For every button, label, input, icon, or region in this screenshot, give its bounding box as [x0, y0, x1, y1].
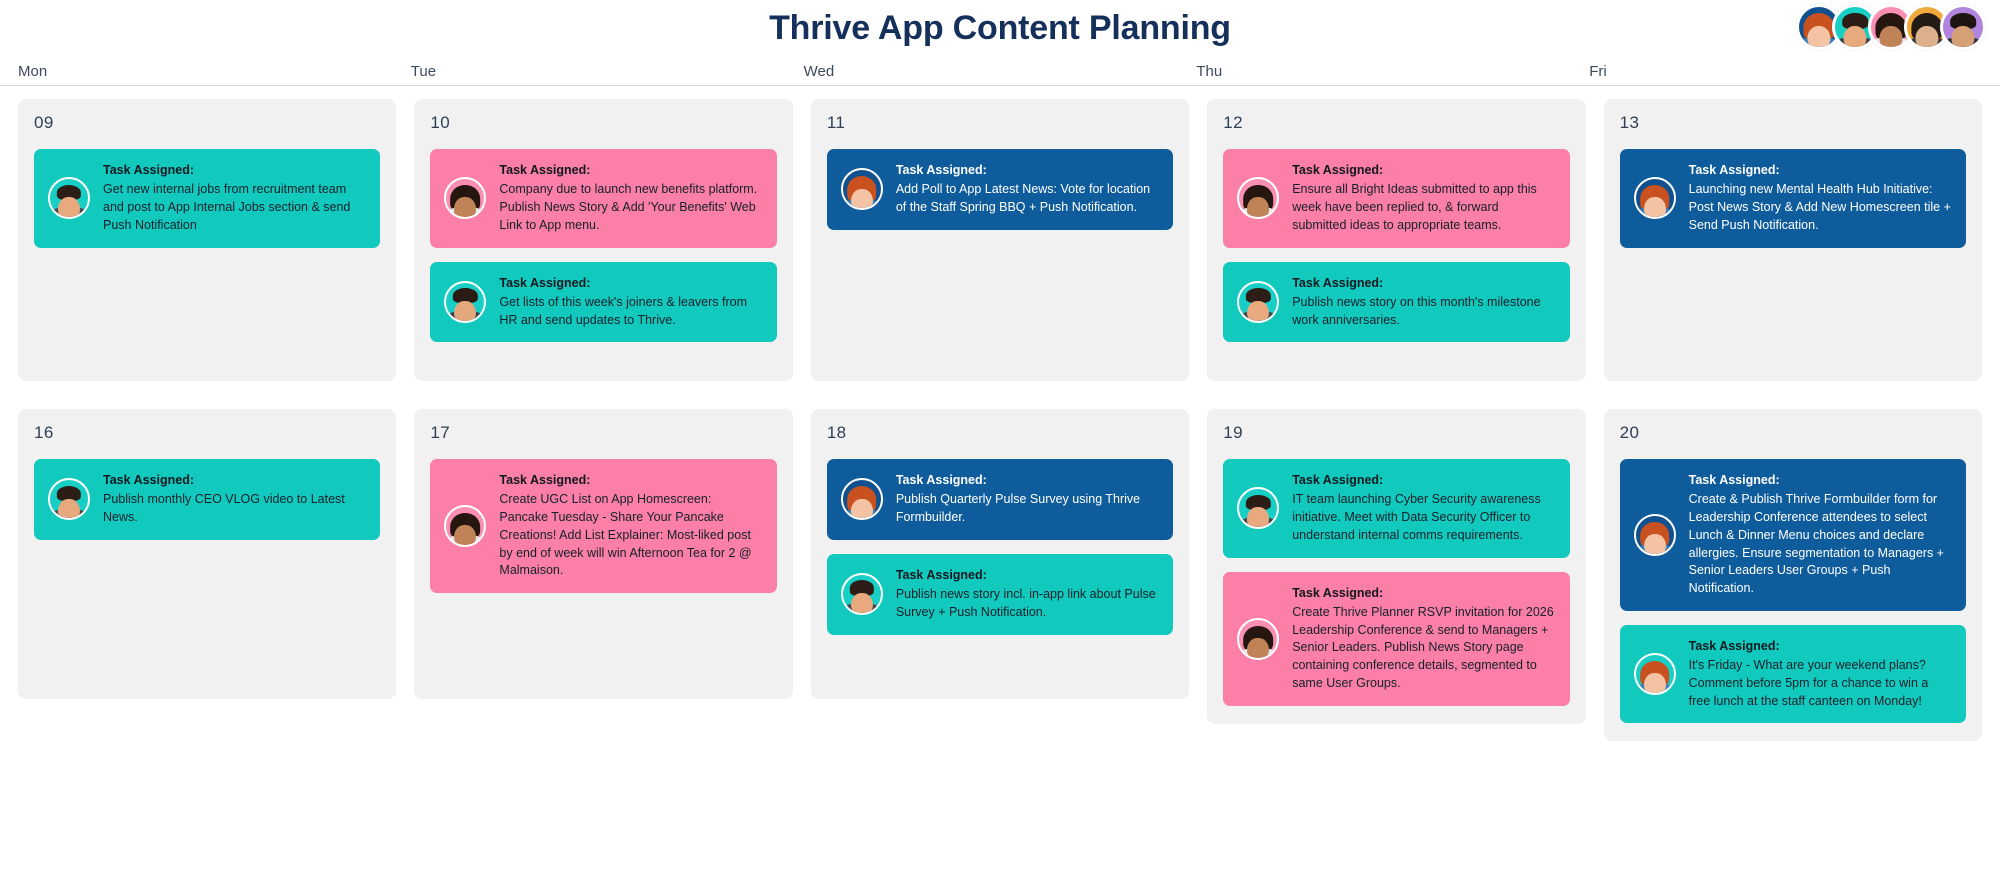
- task-assigned-label: Task Assigned:: [1292, 472, 1555, 488]
- task-card[interactable]: Task Assigned:Launching new Mental Healt…: [1620, 149, 1966, 248]
- task-list: Task Assigned:Company due to launch new …: [430, 149, 776, 342]
- task-description: Get new internal jobs from recruitment t…: [103, 181, 366, 234]
- task-body: Task Assigned:Publish monthly CEO VLOG v…: [103, 472, 366, 527]
- calendar-column-wed: 11Task Assigned:Add Poll to App Latest N…: [811, 99, 1189, 741]
- avatar-face: [1644, 534, 1666, 556]
- task-list: Task Assigned:Create UGC List on App Hom…: [430, 459, 776, 593]
- task-list: Task Assigned:Publish monthly CEO VLOG v…: [34, 459, 380, 540]
- calendar-column-tue: 10Task Assigned:Company due to launch ne…: [414, 99, 792, 741]
- day-cell-12[interactable]: 12Task Assigned:Ensure all Bright Ideas …: [1207, 99, 1585, 381]
- cell-spacer: [827, 230, 1173, 363]
- avatar-face: [1843, 26, 1866, 49]
- day-number: 18: [827, 423, 1173, 443]
- page-header: Thrive App Content Planning: [0, 0, 2000, 56]
- avatar-bearded-man-avatar: [1237, 281, 1279, 323]
- day-cell-19[interactable]: 19Task Assigned:IT team launching Cyber …: [1207, 409, 1585, 724]
- task-assigned-label: Task Assigned:: [1689, 162, 1952, 178]
- day-number: 17: [430, 423, 776, 443]
- avatar-face: [851, 593, 873, 615]
- avatar-face: [1807, 26, 1830, 49]
- task-body: Task Assigned:Create UGC List on App Hom…: [499, 472, 762, 580]
- avatar-face: [454, 197, 476, 219]
- task-card[interactable]: Task Assigned:Publish monthly CEO VLOG v…: [34, 459, 380, 540]
- cell-spacer: [1223, 342, 1569, 363]
- task-description: Create Thrive Planner RSVP invitation fo…: [1292, 604, 1555, 693]
- avatar-curly-haired-woman-avatar: [1237, 177, 1279, 219]
- cell-spacer: [430, 342, 776, 363]
- calendar-column-thu: 12Task Assigned:Ensure all Bright Ideas …: [1207, 99, 1585, 741]
- weekday-label-fri: Fri: [1589, 63, 1982, 85]
- cell-spacer: [827, 635, 1173, 682]
- task-list: Task Assigned:Launching new Mental Healt…: [1620, 149, 1966, 248]
- task-card[interactable]: Task Assigned:Company due to launch new …: [430, 149, 776, 248]
- avatar-face: [454, 525, 476, 547]
- avatar-face: [851, 499, 873, 521]
- task-card[interactable]: Task Assigned:Add Poll to App Latest New…: [827, 149, 1173, 230]
- task-description: Company due to launch new benefits platf…: [499, 181, 762, 234]
- cell-spacer: [1620, 248, 1966, 364]
- calendar-column-mon: 09Task Assigned:Get new internal jobs fr…: [18, 99, 396, 741]
- task-description: Publish monthly CEO VLOG video to Latest…: [103, 491, 366, 527]
- day-cell-13[interactable]: 13Task Assigned:Launching new Mental Hea…: [1604, 99, 1982, 381]
- avatar-dark-hair-man-avatar: [444, 281, 486, 323]
- weekday-label-tue: Tue: [411, 63, 804, 85]
- calendar-column-fri: 13Task Assigned:Launching new Mental Hea…: [1604, 99, 1982, 741]
- task-assigned-label: Task Assigned:: [1689, 472, 1952, 488]
- task-description: Launching new Mental Health Hub Initiati…: [1689, 181, 1952, 234]
- avatar-red-haired-woman-avatar: [1634, 514, 1676, 556]
- task-card[interactable]: Task Assigned:Publish Quarterly Pulse Su…: [827, 459, 1173, 540]
- cell-spacer: [430, 593, 776, 681]
- avatar-curly-haired-woman-avatar: [444, 505, 486, 547]
- weekday-label-thu: Thu: [1196, 63, 1589, 85]
- task-card[interactable]: Task Assigned:Get new internal jobs from…: [34, 149, 380, 248]
- avatar-face: [1879, 26, 1902, 49]
- task-description: Create UGC List on App Homescreen: Panca…: [499, 491, 762, 580]
- avatar-face: [58, 197, 80, 219]
- task-body: Task Assigned:Add Poll to App Latest New…: [896, 162, 1159, 217]
- day-cell-18[interactable]: 18Task Assigned:Publish Quarterly Pulse …: [811, 409, 1189, 699]
- day-number: 11: [827, 113, 1173, 133]
- task-card[interactable]: Task Assigned:Publish news story incl. i…: [827, 554, 1173, 635]
- task-assigned-label: Task Assigned:: [499, 275, 762, 291]
- task-list: Task Assigned:Ensure all Bright Ideas su…: [1223, 149, 1569, 342]
- task-assigned-label: Task Assigned:: [1292, 275, 1555, 291]
- task-assigned-label: Task Assigned:: [1689, 638, 1952, 654]
- avatar-bearded-man-avatar: [48, 478, 90, 520]
- day-number: 13: [1620, 113, 1966, 133]
- day-cell-16[interactable]: 16Task Assigned:Publish monthly CEO VLOG…: [18, 409, 396, 699]
- task-description: Publish Quarterly Pulse Survey using Thr…: [896, 491, 1159, 527]
- task-body: Task Assigned:Create & Publish Thrive Fo…: [1689, 472, 1952, 598]
- task-body: Task Assigned:It's Friday - What are you…: [1689, 638, 1952, 711]
- calendar-page: Thrive App Content Planning MonTueWedThu…: [0, 0, 2000, 892]
- task-description: Add Poll to App Latest News: Vote for lo…: [896, 181, 1159, 217]
- avatar-red-haired-woman-avatar: [841, 168, 883, 210]
- task-body: Task Assigned:Publish news story incl. i…: [896, 567, 1159, 622]
- task-list: Task Assigned:Add Poll to App Latest New…: [827, 149, 1173, 230]
- task-assigned-label: Task Assigned:: [499, 162, 762, 178]
- day-number: 12: [1223, 113, 1569, 133]
- task-list: Task Assigned:Create & Publish Thrive Fo…: [1620, 459, 1966, 723]
- avatar-bearded-man-avatar: [48, 177, 90, 219]
- task-card[interactable]: Task Assigned:Create Thrive Planner RSVP…: [1223, 572, 1569, 706]
- day-cell-17[interactable]: 17Task Assigned:Create UGC List on App H…: [414, 409, 792, 699]
- avatar-red-haired-woman-avatar: [841, 478, 883, 520]
- day-number: 19: [1223, 423, 1569, 443]
- avatar-bearded-man-avatar: [1237, 487, 1279, 529]
- day-cell-11[interactable]: 11Task Assigned:Add Poll to App Latest N…: [811, 99, 1189, 381]
- task-card[interactable]: Task Assigned:Create UGC List on App Hom…: [430, 459, 776, 593]
- avatar-face: [1247, 197, 1269, 219]
- task-body: Task Assigned:Create Thrive Planner RSVP…: [1292, 585, 1555, 693]
- avatar-face: [1247, 507, 1269, 529]
- avatar-curly-haired-woman-avatar: [444, 177, 486, 219]
- task-card[interactable]: Task Assigned:It's Friday - What are you…: [1620, 625, 1966, 724]
- day-cell-20[interactable]: 20Task Assigned:Create & Publish Thrive …: [1604, 409, 1982, 741]
- cell-spacer: [34, 248, 380, 364]
- task-assigned-label: Task Assigned:: [1292, 162, 1555, 178]
- day-number: 09: [34, 113, 380, 133]
- task-description: Publish news story on this month's miles…: [1292, 294, 1555, 330]
- avatar-face: [1247, 638, 1269, 660]
- weekday-header-row: MonTueWedThuFri: [0, 56, 2000, 86]
- weekday-label-wed: Wed: [804, 63, 1197, 85]
- task-card[interactable]: Task Assigned:Publish news story on this…: [1223, 262, 1569, 343]
- cell-spacer: [34, 540, 380, 681]
- weekday-label-mon: Mon: [18, 63, 411, 85]
- task-list: Task Assigned:Get new internal jobs from…: [34, 149, 380, 248]
- avatar-beard-man-dark-avatar: [1940, 4, 1986, 50]
- avatar-curly-haired-woman-avatar: [1237, 618, 1279, 660]
- avatar-face: [454, 301, 476, 323]
- task-list: Task Assigned:IT team launching Cyber Se…: [1223, 459, 1569, 706]
- page-title: Thrive App Content Planning: [769, 9, 1231, 48]
- task-description: Get lists of this week's joiners & leave…: [499, 294, 762, 330]
- day-number: 20: [1620, 423, 1966, 443]
- avatar-face: [1247, 301, 1269, 323]
- task-assigned-label: Task Assigned:: [896, 567, 1159, 583]
- task-assigned-label: Task Assigned:: [896, 472, 1159, 488]
- day-cell-10[interactable]: 10Task Assigned:Company due to launch ne…: [414, 99, 792, 381]
- task-body: Task Assigned:IT team launching Cyber Se…: [1292, 472, 1555, 545]
- calendar-grid: 09Task Assigned:Get new internal jobs fr…: [0, 99, 2000, 741]
- task-assigned-label: Task Assigned:: [103, 162, 366, 178]
- task-assigned-label: Task Assigned:: [896, 162, 1159, 178]
- task-description: Publish news story incl. in-app link abo…: [896, 586, 1159, 622]
- task-body: Task Assigned:Get new internal jobs from…: [103, 162, 366, 235]
- avatar-face: [1951, 26, 1974, 49]
- task-card[interactable]: Task Assigned:Ensure all Bright Ideas su…: [1223, 149, 1569, 248]
- task-assigned-label: Task Assigned:: [103, 472, 366, 488]
- avatar-face: [58, 499, 80, 521]
- task-card[interactable]: Task Assigned:Create & Publish Thrive Fo…: [1620, 459, 1966, 611]
- day-number: 10: [430, 113, 776, 133]
- task-assigned-label: Task Assigned:: [499, 472, 762, 488]
- task-body: Task Assigned:Publish news story on this…: [1292, 275, 1555, 330]
- task-card[interactable]: Task Assigned:IT team launching Cyber Se…: [1223, 459, 1569, 558]
- avatar-red-haired-woman-2-avatar: [1634, 653, 1676, 695]
- avatar-face: [1915, 26, 1938, 49]
- team-avatar-stack[interactable]: [1796, 4, 1986, 50]
- task-assigned-label: Task Assigned:: [1292, 585, 1555, 601]
- avatar-red-haired-woman-avatar: [1634, 177, 1676, 219]
- task-description: Create & Publish Thrive Formbuilder form…: [1689, 491, 1952, 598]
- task-list: Task Assigned:Publish Quarterly Pulse Su…: [827, 459, 1173, 635]
- avatar-face: [1644, 197, 1666, 219]
- task-body: Task Assigned:Ensure all Bright Ideas su…: [1292, 162, 1555, 235]
- task-body: Task Assigned:Publish Quarterly Pulse Su…: [896, 472, 1159, 527]
- task-card[interactable]: Task Assigned:Get lists of this week's j…: [430, 262, 776, 343]
- task-description: It's Friday - What are your weekend plan…: [1689, 657, 1952, 710]
- avatar-bearded-man-avatar: [841, 573, 883, 615]
- task-description: IT team launching Cyber Security awarene…: [1292, 491, 1555, 544]
- task-body: Task Assigned:Get lists of this week's j…: [499, 275, 762, 330]
- task-body: Task Assigned:Company due to launch new …: [499, 162, 762, 235]
- day-cell-09[interactable]: 09Task Assigned:Get new internal jobs fr…: [18, 99, 396, 381]
- day-number: 16: [34, 423, 380, 443]
- avatar-face: [1644, 673, 1666, 695]
- task-body: Task Assigned:Launching new Mental Healt…: [1689, 162, 1952, 235]
- avatar-face: [851, 189, 873, 211]
- task-description: Ensure all Bright Ideas submitted to app…: [1292, 181, 1555, 234]
